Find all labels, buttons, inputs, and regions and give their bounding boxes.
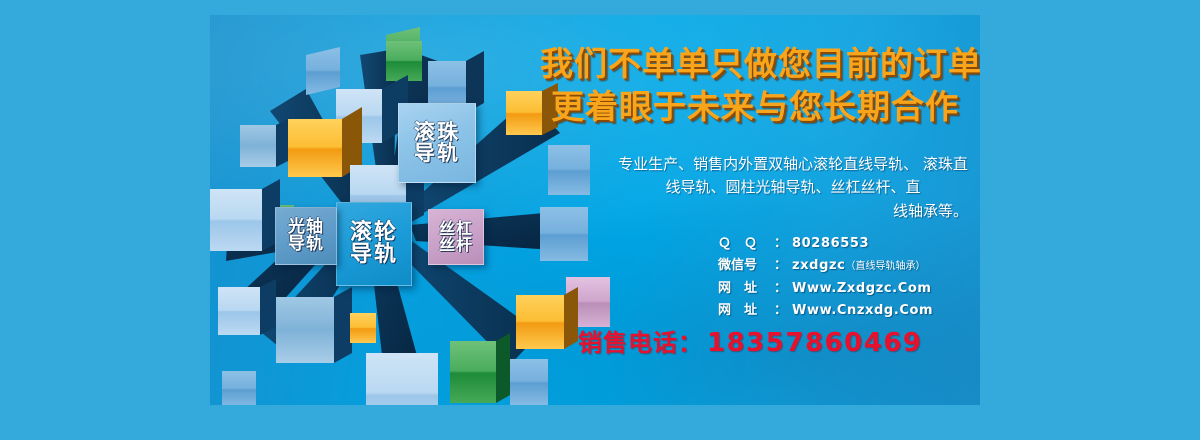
description-line-3: 线轴承等。 [618,200,968,223]
contact-info-block: Ｑ Ｑ ： 80286553 微信号 ： zxdgzc （直线导轨轴承） 网 址… [718,233,980,322]
contact-colon-website-2: ： [774,300,787,322]
promo-banner: 滚珠 导轨 滚轮 导轨 光轴 导轨 丝杠 丝杆 我们不单单只做您目前的订单 更着… [210,15,980,405]
chip-guangzhou-line2: 导轨 [288,236,324,253]
page-root: 滚珠 导轨 滚轮 导轨 光轴 导轨 丝杠 丝杆 我们不单单只做您目前的订单 更着… [0,0,1200,440]
product-chip-guangzhou-daogui[interactable]: 光轴 导轨 [275,207,337,265]
chip-gunlun-line2: 导轨 [350,244,398,266]
chip-sigang-line2: 丝杆 [439,237,473,253]
headline-line-1: 我们不单单只做您目前的订单 [540,43,970,86]
contact-label-website-2: 网 址 [718,300,774,322]
contact-row-website-1: 网 址 ： Www.Zxdgzc.Com [718,278,980,300]
headline: 我们不单单只做您目前的订单 更着眼于未来与您长期合作 [540,43,970,129]
contact-row-wechat: 微信号 ： zxdgzc （直线导轨轴承） [718,255,980,277]
product-chip-gunlun-daogui[interactable]: 滚轮 导轨 [336,202,412,286]
banner-copy-column: 我们不单单只做您目前的订单 更着眼于未来与您长期合作 专业生产、销售内外置双轴心… [540,15,980,405]
chip-gunzhu-line2: 导轨 [414,143,460,164]
contact-colon-website-1: ： [774,278,787,300]
contact-note-wechat: （直线导轨轴承） [845,258,925,275]
description-paragraph: 专业生产、销售内外置双轴心滚轮直线导轨、 滚珠直线导轨、圆柱光轴导轨、丝杠丝杆、… [618,153,968,223]
contact-label-qq: Ｑ Ｑ [718,233,774,255]
contact-colon-qq: ： [774,233,787,255]
product-chip-sigang-sigan[interactable]: 丝杠 丝杆 [428,209,484,265]
chip-gunzhu-line1: 滚珠 [414,122,460,143]
headline-line-2: 更着眼于未来与您长期合作 [540,86,970,129]
contact-row-website-2: 网 址 ： Www.Cnzxdg.Com [718,300,980,322]
sales-phone-label: 销售电话： [578,329,703,357]
contact-value-qq[interactable]: 80286553 [792,233,869,255]
sales-phone[interactable]: 销售电话：18357860469 [578,323,978,358]
contact-label-wechat: 微信号 [718,255,774,277]
contact-value-wechat[interactable]: zxdgzc [792,255,845,277]
contact-label-website-1: 网 址 [718,278,774,300]
contact-value-website-2[interactable]: Www.Cnzxdg.Com [792,300,933,322]
contact-value-website-1[interactable]: Www.Zxdgzc.Com [792,278,932,300]
contact-colon-wechat: ： [774,255,787,277]
sales-phone-number[interactable]: 18357860469 [707,328,923,358]
contact-row-qq: Ｑ Ｑ ： 80286553 [718,233,980,255]
product-chip-gunzhu-daogui[interactable]: 滚珠 导轨 [398,103,476,183]
chip-gunlun-line1: 滚轮 [350,222,398,244]
description-line-1: 专业生产、销售内外置双轴心滚轮直线导轨、 [618,155,918,173]
